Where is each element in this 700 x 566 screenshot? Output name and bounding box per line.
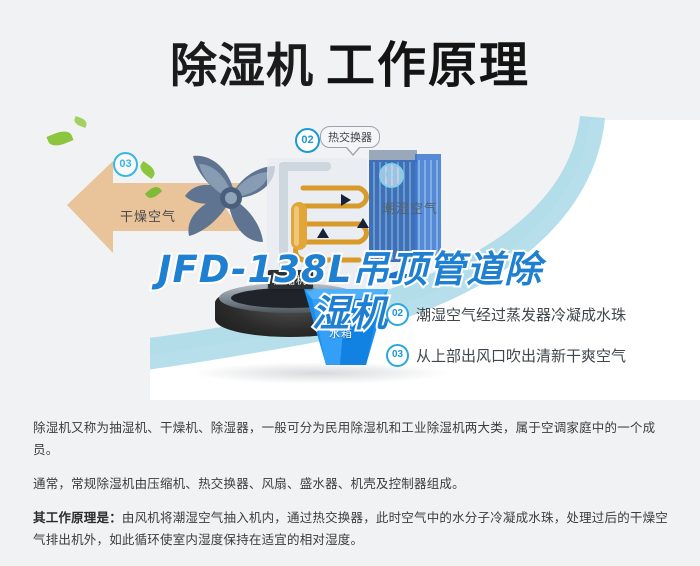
label-compressor: 压缩机 — [268, 270, 313, 289]
body-copy: 除湿机又称为抽湿机、干燥机、除湿器，一般可分为民用除湿机和工业除湿机两大类，属于… — [33, 417, 671, 551]
label-heat-exchanger: 热交换器 — [320, 126, 380, 148]
paragraph-3: 其工作原理是：由风机将潮湿空气抽入机内，通过热交换器，此时空气中的水分子冷凝成水… — [33, 507, 671, 551]
label-water-tank: 水箱 — [329, 325, 353, 341]
step-item-02: 02 潮湿空气经过蒸发器冷凝成水珠 — [386, 303, 626, 326]
page-title: 除湿机工作原理 — [0, 26, 700, 97]
label-dry-air: 干燥空气 — [120, 206, 176, 225]
title-part-1: 除湿机 — [170, 39, 314, 94]
paragraph-1: 除湿机又称为抽湿机、干燥机、除湿器，一般可分为民用除湿机和工业除湿机两大类，属于… — [33, 417, 671, 461]
badge-02: 02 — [295, 128, 320, 153]
paragraph-3-rest: 由风机将潮湿空气抽入机内，通过热交换器，此时空气中的水分子冷凝成水珠，处理过后的… — [33, 511, 668, 547]
badge-01: 01 — [379, 163, 404, 188]
infographic-page: 除湿机工作原理 03 干燥空气 — [0, 0, 700, 566]
step-item-03: 03 从上部出风口吹出清新干爽空气 — [386, 344, 626, 367]
step-text: 从上部出风口吹出清新干爽空气 — [416, 345, 626, 366]
title-part-2: 工作原理 — [326, 39, 530, 93]
paragraph-2: 通常，常规除湿机由压缩机、热交换器、风扇、盛水器、机壳及控制器组成。 — [33, 473, 671, 495]
paragraph-3-lead: 其工作原理是： — [33, 511, 122, 525]
step-number: 03 — [386, 344, 409, 367]
leaf-icon — [73, 116, 88, 128]
label-humid-air: 潮湿空气 — [382, 198, 438, 217]
step-text: 潮湿空气经过蒸发器冷凝成水珠 — [416, 304, 626, 325]
badge-03: 03 — [113, 152, 138, 177]
step-number: 02 — [386, 303, 409, 326]
